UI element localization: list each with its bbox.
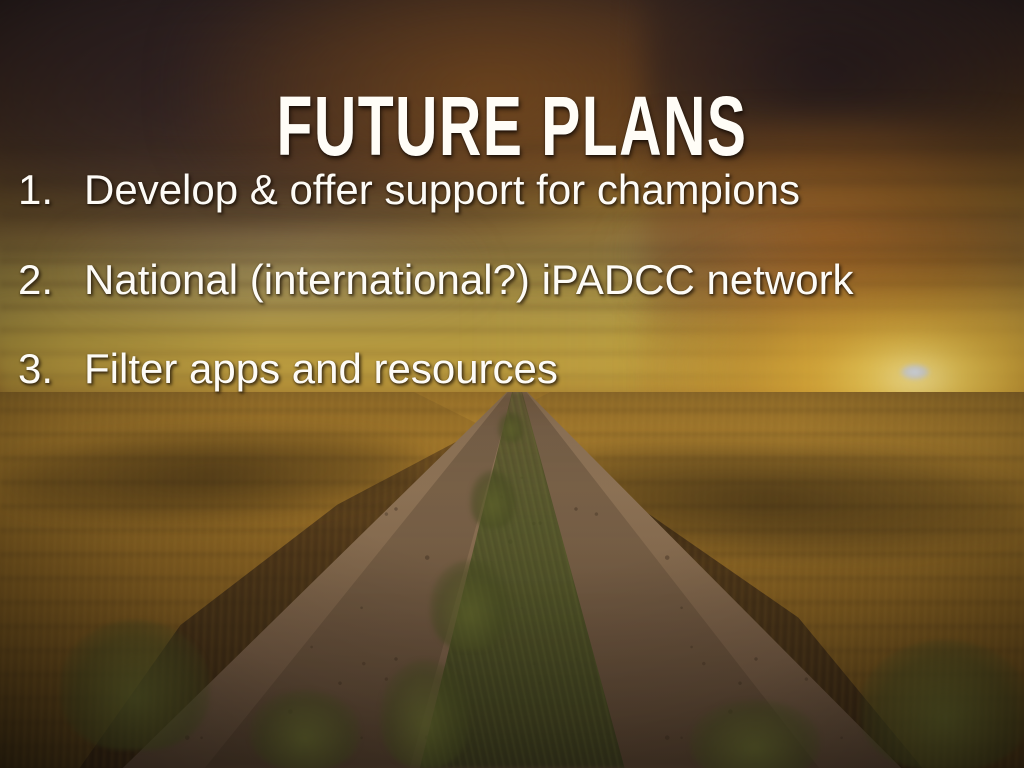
list-item-label: Develop & offer support for champions xyxy=(84,168,800,213)
list-item-number: 2. xyxy=(18,258,84,303)
future-plans-list: 1. Develop & offer support for champions… xyxy=(18,168,1008,437)
slide-content: FUTURE PLANS 1. Develop & offer support … xyxy=(0,0,1024,768)
page-title: FUTURE PLANS xyxy=(154,84,871,168)
list-item-number: 1. xyxy=(18,168,84,213)
list-item: 3. Filter apps and resources xyxy=(18,347,1008,392)
list-item: 1. Develop & offer support for champions xyxy=(18,168,1008,213)
list-item: 2. National (international?) iPADCC netw… xyxy=(18,258,1008,303)
list-item-label: Filter apps and resources xyxy=(84,347,558,392)
list-item-number: 3. xyxy=(18,347,84,392)
list-item-label: National (international?) iPADCC network xyxy=(84,258,854,303)
presentation-slide: FUTURE PLANS 1. Develop & offer support … xyxy=(0,0,1024,768)
